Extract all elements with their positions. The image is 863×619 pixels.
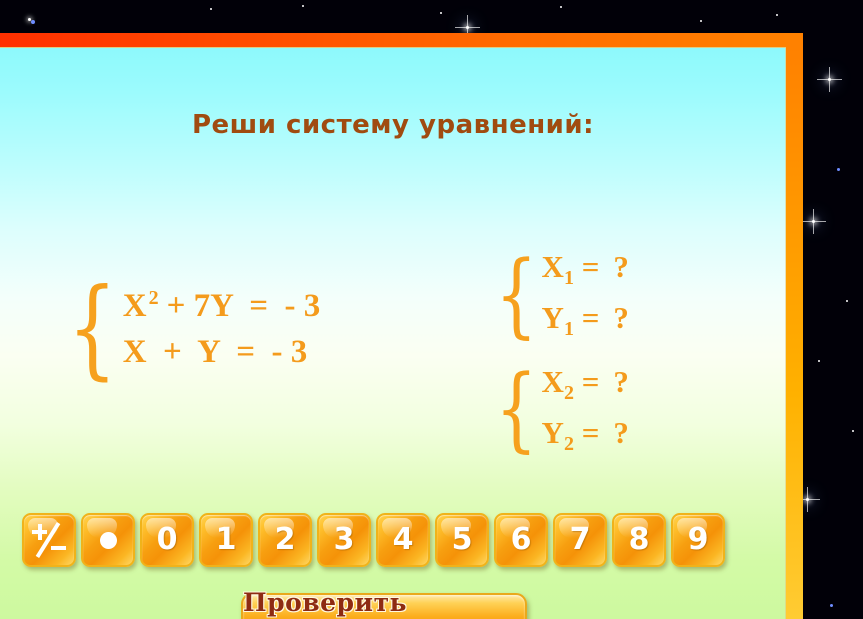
key-digit-9[interactable]: 9 — [671, 513, 725, 567]
key-digit-8[interactable]: 8 — [612, 513, 666, 567]
page-title: Реши систему уравнений: — [0, 110, 786, 140]
answer-row-x1-var: X — [542, 249, 564, 284]
key-digit-6-label: 6 — [511, 525, 532, 555]
star — [466, 26, 469, 29]
answer-row-y2-sub: 2 — [564, 433, 574, 455]
answer-row-y1-sub: 1 — [564, 319, 574, 341]
key-digit-8-label: 8 — [629, 525, 650, 555]
key-digit-7-label: 7 — [570, 525, 591, 555]
check-solution-button[interactable]: Проверить решение — [241, 593, 527, 619]
check-solution-button-label: Проверить решение — [243, 588, 525, 619]
answer-row-y1-value: ? — [613, 300, 629, 335]
answer-row-y1[interactable]: Y1 =? — [542, 294, 629, 345]
answer-row-x1-value: ? — [613, 249, 629, 284]
star — [776, 14, 778, 16]
key-digit-1-label: 1 — [216, 525, 237, 555]
answers-panel: { X1 =? Y1 =? { X2 =? Y2 =? — [487, 243, 629, 461]
equation-system: { X2+ 7Y = - 3 X + Y = - 3 — [58, 285, 320, 373]
equation-line-1: X2+ 7Y = - 3 — [123, 285, 321, 327]
key-decimal-point[interactable] — [81, 513, 135, 567]
key-digit-5-label: 5 — [452, 525, 473, 555]
answer-row-x2-value: ? — [613, 364, 629, 399]
answer-group-1-brace: { — [495, 259, 537, 331]
equation-line-1-rest: + 7Y = - 3 — [167, 288, 321, 324]
answer-row-x2-equals: = — [582, 364, 600, 399]
key-digit-2[interactable]: 2 — [258, 513, 312, 567]
answer-row-x2-var: X — [542, 364, 564, 399]
equation-line-1-exponent: 2 — [149, 287, 159, 309]
star — [560, 6, 562, 8]
star — [846, 300, 848, 302]
star — [700, 20, 702, 22]
answer-row-y1-equals: = — [582, 300, 600, 335]
star — [830, 604, 833, 607]
key-digit-7[interactable]: 7 — [553, 513, 607, 567]
answer-row-y2-equals: = — [582, 415, 600, 450]
star — [440, 12, 442, 14]
equation-lines: X2+ 7Y = - 3 X + Y = - 3 — [123, 285, 321, 373]
key-digit-6[interactable]: 6 — [494, 513, 548, 567]
star — [210, 8, 212, 10]
numeric-keypad: 0 1 2 3 4 5 6 — [22, 513, 725, 567]
key-digit-1[interactable]: 1 — [199, 513, 253, 567]
answer-row-x2[interactable]: X2 =? — [542, 358, 629, 409]
answer-row-x1-sub: 1 — [564, 267, 574, 289]
key-plus-minus[interactable] — [22, 513, 76, 567]
key-digit-5[interactable]: 5 — [435, 513, 489, 567]
answer-row-x2-sub: 2 — [564, 382, 574, 404]
key-digit-2-label: 2 — [275, 525, 296, 555]
system-brace: { — [68, 287, 117, 371]
star — [828, 78, 831, 81]
answer-row-y2-value: ? — [613, 415, 629, 450]
star — [806, 498, 809, 501]
key-digit-0-label: 0 — [157, 525, 178, 555]
key-digit-3[interactable]: 3 — [317, 513, 371, 567]
star — [818, 360, 820, 362]
key-digit-4-label: 4 — [393, 525, 414, 555]
answer-group-2: { X2 =? Y2 =? — [487, 358, 629, 461]
slide-content: Реши систему уравнений: { X2+ 7Y = - 3 X… — [0, 47, 786, 619]
answer-group-1: { X1 =? Y1 =? — [487, 243, 629, 346]
star — [302, 5, 304, 7]
key-digit-0[interactable]: 0 — [140, 513, 194, 567]
equation-line-1-base: X — [123, 288, 147, 324]
dot-icon — [100, 532, 117, 549]
key-digit-9-label: 9 — [688, 525, 709, 555]
answer-group-2-rows: X2 =? Y2 =? — [542, 358, 629, 461]
slide-stage: Реши систему уравнений: { X2+ 7Y = - 3 X… — [0, 0, 863, 619]
answer-row-y1-var: Y — [542, 300, 564, 335]
answer-row-y2-var: Y — [542, 415, 564, 450]
plus-minus-icon — [30, 521, 68, 559]
equation-line-2: X + Y = - 3 — [123, 331, 321, 373]
star — [812, 220, 815, 223]
answer-group-1-rows: X1 =? Y1 =? — [542, 243, 629, 346]
answer-row-x1[interactable]: X1 =? — [542, 243, 629, 294]
answer-row-x1-equals: = — [582, 249, 600, 284]
key-digit-4[interactable]: 4 — [376, 513, 430, 567]
answer-row-y2[interactable]: Y2 =? — [542, 409, 629, 460]
key-digit-3-label: 3 — [334, 525, 355, 555]
star — [31, 20, 35, 24]
star — [852, 430, 854, 432]
star — [837, 168, 840, 171]
answer-group-2-brace: { — [495, 373, 537, 445]
slide-frame: Реши систему уравнений: { X2+ 7Y = - 3 X… — [0, 33, 803, 619]
